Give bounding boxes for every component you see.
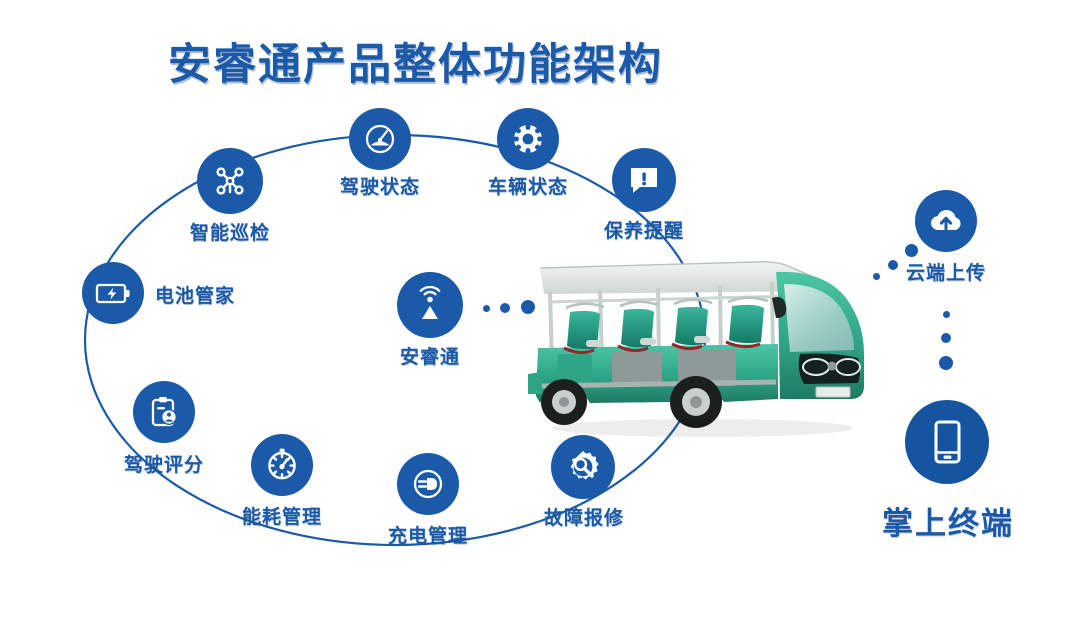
mobile-device-icon [925,417,969,467]
gauge-timer-icon [264,447,300,483]
energy-management-label: 能耗管理 [242,502,322,529]
driving-score-bubble[interactable] [133,381,195,443]
energy-management-bubble[interactable] [251,434,313,496]
maintenance-reminder-bubble[interactable] [612,148,676,212]
network-nodes-icon [212,163,248,199]
speedometer-icon [362,121,398,157]
driving-status-label: 驾驶状态 [340,172,420,199]
battery-icon [94,277,132,309]
cloud-upload-label: 云端上传 [906,258,986,285]
clipboard-person-icon [147,395,181,429]
driving-score-label: 驾驶评分 [124,450,204,477]
gear-wrench-icon [564,448,602,486]
smart-inspection-bubble[interactable] [197,148,263,214]
vehicle-status-label: 车辆状态 [488,172,568,199]
charging-management-label: 充电管理 [388,521,468,548]
vehicle-status-bubble[interactable] [497,108,559,170]
anruitong-bubble[interactable] [397,272,463,338]
fault-repair-bubble[interactable] [551,435,615,499]
battery-manager-bubble[interactable] [82,262,144,324]
cloud-upload-icon [927,205,965,237]
tire-icon [509,120,547,158]
handheld-terminal-bubble[interactable] [905,400,989,484]
smart-inspection-label: 智能巡检 [190,218,270,245]
anruitong-label: 安睿通 [400,342,460,369]
fault-repair-label: 故障报修 [544,503,624,530]
electric-shuttle-bus [528,236,888,441]
cloud-upload-bubble[interactable] [915,190,977,252]
driving-status-bubble[interactable] [349,108,411,170]
infographic-canvas: 安睿通产品整体功能架构 [0,0,1080,617]
alert-message-icon [627,163,661,197]
signal-tower-icon [411,286,449,324]
charging-plug-icon [410,466,446,502]
charging-management-bubble[interactable] [397,453,459,515]
handheld-terminal-label: 掌上终端 [882,498,1014,543]
maintenance-reminder-label: 保养提醒 [604,216,684,243]
battery-manager-label: 电池管家 [155,281,235,308]
